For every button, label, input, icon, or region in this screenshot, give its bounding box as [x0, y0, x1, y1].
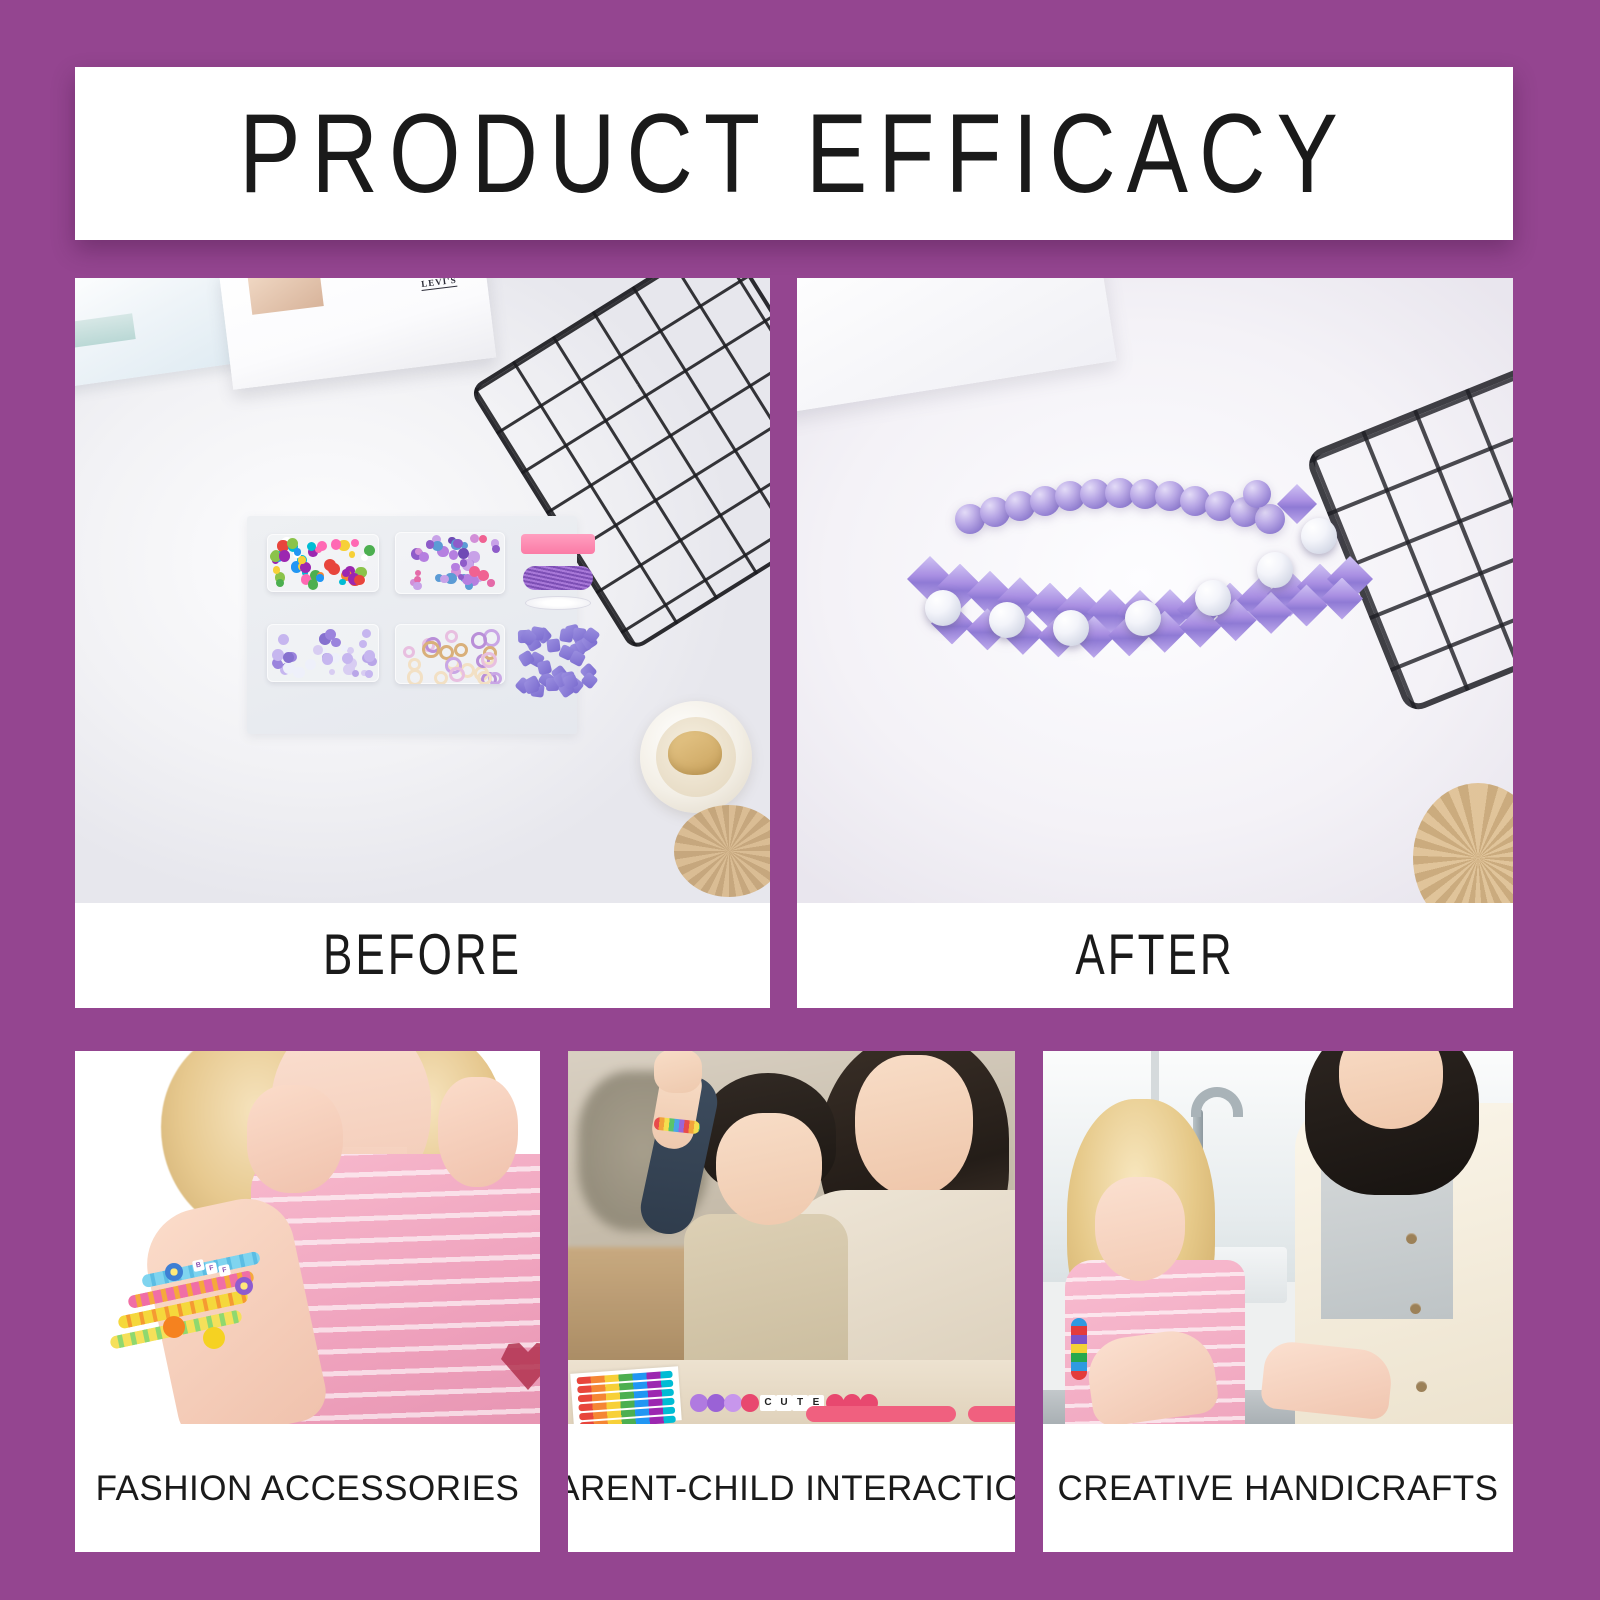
- creative-scene: [1043, 1051, 1513, 1424]
- sticker-sheet: [570, 1366, 682, 1424]
- parent-child-caption-band: PARENT-CHILD INTERACTION: [568, 1424, 1015, 1552]
- rope-basket: [1413, 783, 1513, 903]
- purple-charm-packet: [395, 532, 505, 594]
- girl-beaded-bracelet: [1071, 1318, 1087, 1380]
- flower-bead: [235, 1277, 253, 1295]
- before-card: MADE & LEVI'S BEFORE: [75, 278, 770, 1008]
- girl-hand-right: [438, 1077, 518, 1187]
- page-title: PRODUCT EFFICACY: [239, 97, 1349, 209]
- fashion-accessories-caption-band: FASHION ACCESSORIES: [75, 1424, 540, 1552]
- white-elastic-string: [525, 596, 591, 610]
- fashion-accessories-card: BFF FASHION ACCESSORIES: [75, 1051, 540, 1552]
- after-card: AFTER: [797, 278, 1513, 1008]
- bracelet-bead: [724, 1394, 742, 1412]
- after-caption-band: AFTER: [797, 903, 1513, 1008]
- flower-bead: [163, 1316, 185, 1338]
- book-cover-image: [247, 278, 323, 315]
- creative-handicrafts-caption-band: CREATIVE HANDICRAFTS: [1043, 1424, 1513, 1552]
- fashion-scene: BFF: [75, 1051, 540, 1424]
- parent-child-scene: CUTE: [568, 1051, 1015, 1424]
- letter-bead: C: [760, 1395, 776, 1411]
- finished-bracelet: [885, 440, 1355, 690]
- kit-tray: [247, 516, 577, 734]
- flower-bead: [203, 1327, 225, 1349]
- creative-handicrafts-card: CREATIVE HANDICRAFTS: [1043, 1051, 1513, 1552]
- rope-basket: [674, 805, 770, 897]
- white-paper: [797, 278, 1117, 414]
- rainbow-clay-disc-packet: [267, 534, 379, 592]
- after-scene: [797, 278, 1513, 903]
- girl-face: [1095, 1177, 1185, 1281]
- girl-hand-left: [247, 1085, 343, 1193]
- letter-bead: T: [792, 1395, 808, 1411]
- boy-fist: [654, 1051, 702, 1093]
- creative-handicrafts-caption-label: CREATIVE HANDICRAFTS: [1057, 1471, 1498, 1506]
- title-bar: PRODUCT EFFICACY: [75, 67, 1513, 240]
- parent-child-caption-label: PARENT-CHILD INTERACTION: [568, 1471, 1015, 1506]
- purple-pearl-bead-packet: [267, 624, 379, 682]
- bracelet-bead: [690, 1394, 708, 1412]
- cardigan-button-middle: [1410, 1303, 1421, 1314]
- rainbow-bead-row-left: [806, 1406, 956, 1422]
- fashion-accessories-caption-label: FASHION ACCESSORIES: [96, 1471, 520, 1506]
- infographic-page: PRODUCT EFFICACY MADE & LEVI'S: [0, 0, 1600, 1600]
- purple-cord-coil: [523, 566, 593, 590]
- pastel-ring-packet: [395, 624, 505, 684]
- mother-face: [855, 1055, 973, 1197]
- before-caption-band: BEFORE: [75, 903, 770, 1008]
- flower-bead: [165, 1263, 183, 1281]
- before-photo: MADE & LEVI'S: [75, 278, 770, 903]
- bracelet-bead: [707, 1394, 725, 1412]
- fashion-accessories-photo: BFF: [75, 1051, 540, 1424]
- shell-bowl: [640, 701, 752, 813]
- letter-bead: B: [192, 1259, 205, 1272]
- heart-applique: [501, 1340, 540, 1390]
- boy-face: [716, 1113, 822, 1225]
- rainbow-bead-row-right: [968, 1406, 1015, 1422]
- bracelet-bead: [741, 1394, 759, 1412]
- lavender-letter-cubes: [511, 620, 601, 702]
- creative-handicrafts-photo: [1043, 1051, 1513, 1424]
- book-label-secondary: LEVI'S: [421, 278, 458, 291]
- letter-bead: U: [776, 1395, 792, 1411]
- cardigan-button-top: [1406, 1233, 1417, 1244]
- cute-letter-bracelet: CUTE: [690, 1392, 812, 1414]
- before-scene: MADE & LEVI'S: [75, 278, 770, 903]
- parent-child-card: CUTE PARENT-CHILD INTERACTION: [568, 1051, 1015, 1552]
- pink-elastic-band: [521, 534, 595, 554]
- after-caption-label: AFTER: [1075, 927, 1234, 984]
- photo-book: MADE & LEVI'S: [219, 278, 497, 390]
- after-photo: [797, 278, 1513, 903]
- before-caption-label: BEFORE: [323, 927, 522, 984]
- letter-bead: F: [205, 1262, 218, 1275]
- cardigan-button-bottom: [1416, 1381, 1427, 1392]
- parent-child-photo: CUTE: [568, 1051, 1015, 1424]
